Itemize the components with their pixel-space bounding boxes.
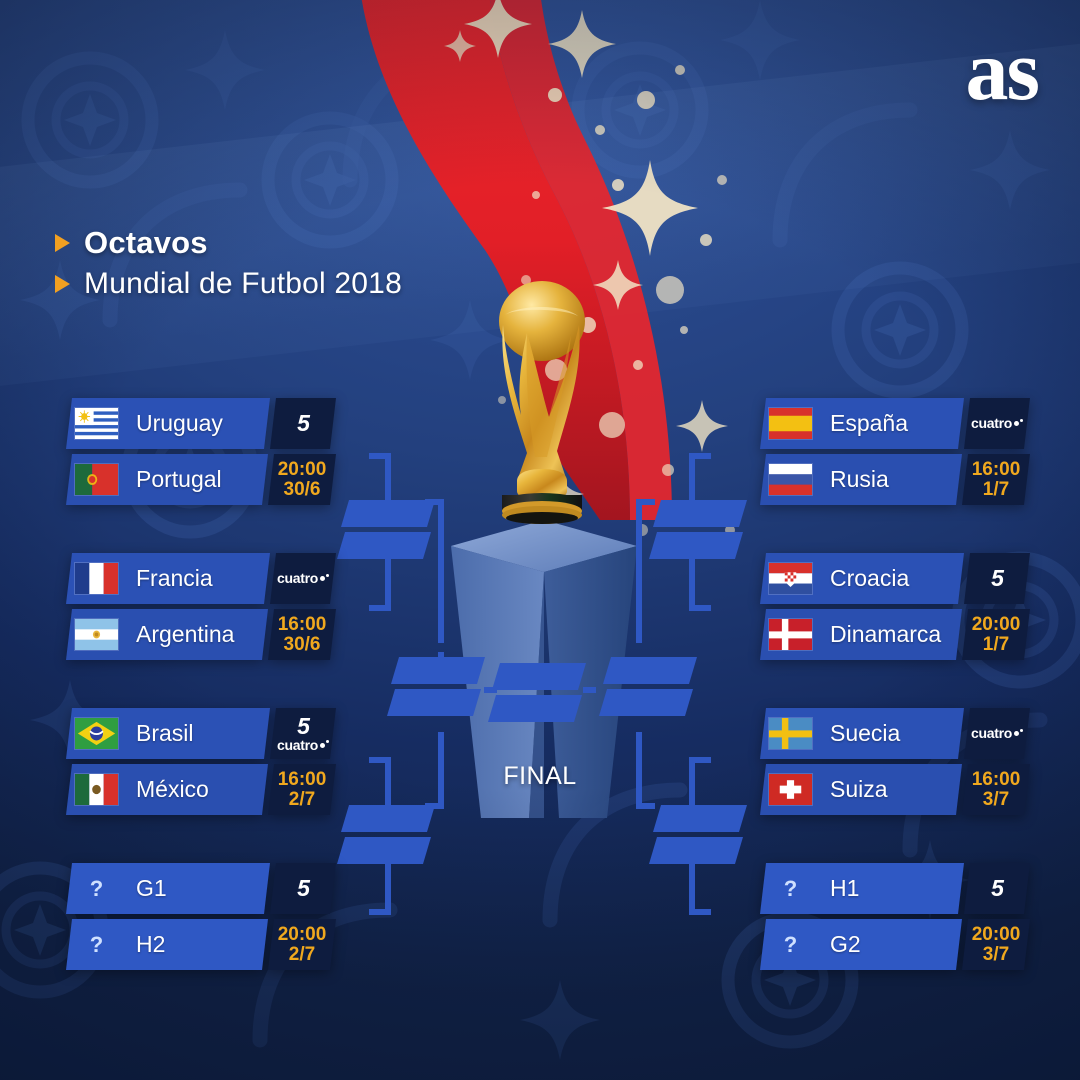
- channel-badge[interactable]: cuatro: [964, 708, 1030, 759]
- flag-rusia: [768, 463, 813, 496]
- match-card[interactable]: Francia cuatro Argentina 16:00 30/6: [66, 553, 336, 660]
- channel-badge[interactable]: 5: [964, 863, 1030, 914]
- team-row[interactable]: Rusia 16:00 1/7: [760, 454, 1030, 505]
- team-name: Rusia: [830, 466, 889, 493]
- team-bar[interactable]: Rusia: [760, 454, 962, 505]
- match-date: 30/6: [284, 480, 321, 500]
- match-time: 20:00: [278, 925, 327, 945]
- team-name: Suiza: [830, 776, 888, 803]
- team-name: G1: [136, 875, 167, 902]
- match-time: 16:00: [278, 770, 327, 790]
- team-name: España: [830, 410, 908, 437]
- flag-suecia: [768, 717, 813, 750]
- as-brand-logo: as: [966, 34, 1038, 108]
- team-name: H1: [830, 875, 859, 902]
- match-time: 20:00: [278, 460, 327, 480]
- team-name: H2: [136, 931, 165, 958]
- match-date: 30/6: [284, 635, 321, 655]
- match-time: 16:00: [278, 615, 327, 635]
- channel-badge[interactable]: cuatro: [270, 553, 336, 604]
- team-name: Portugal: [136, 466, 222, 493]
- page-subtitle: Mundial de Futbol 2018: [84, 267, 402, 301]
- team-row[interactable]: Suiza 16:00 3/7: [760, 764, 1030, 815]
- team-name: Suecia: [830, 720, 900, 747]
- match-card[interactable]: Suecia cuatro Suiza 16:00 3/7: [760, 708, 1030, 815]
- kickoff-badge: 16:00 1/7: [962, 454, 1030, 505]
- team-name: Brasil: [136, 720, 194, 747]
- page-title-block: Octavos Mundial de Futbol 2018: [55, 225, 402, 307]
- team-bar[interactable]: México: [66, 764, 268, 815]
- unknown-team-icon: ?: [74, 876, 119, 902]
- match-card[interactable]: ? G1 5 ? H2 20:00 2/7: [66, 863, 336, 970]
- flag-dinamarca: [768, 618, 813, 651]
- match-time: 20:00: [972, 925, 1021, 945]
- title-row-primary: Octavos: [55, 225, 402, 261]
- unknown-team-icon: ?: [74, 932, 119, 958]
- channel-badge[interactable]: 5: [964, 553, 1030, 604]
- team-bar[interactable]: Portugal: [66, 454, 268, 505]
- match-date: 3/7: [983, 790, 1009, 810]
- team-bar[interactable]: Croacia: [760, 553, 964, 604]
- match-date: 1/7: [983, 480, 1009, 500]
- team-row[interactable]: ? H2 20:00 2/7: [66, 919, 336, 970]
- channel-logo-telecinco: 5: [991, 877, 1003, 900]
- channel-logo-telecinco: 5: [297, 715, 309, 738]
- infographic-root: FINAL Octavos Mundial de Futbol 2018 as …: [0, 0, 1080, 1080]
- team-name: G2: [830, 931, 861, 958]
- kickoff-badge: 20:00 3/7: [962, 919, 1030, 970]
- team-row[interactable]: Uruguay 5: [66, 398, 336, 449]
- team-name: Uruguay: [136, 410, 223, 437]
- flag-francia: [74, 562, 119, 595]
- team-bar[interactable]: Argentina: [66, 609, 268, 660]
- kickoff-badge: 20:00 1/7: [962, 609, 1030, 660]
- flag-portugal: [74, 463, 119, 496]
- match-date: 2/7: [289, 945, 315, 965]
- team-row[interactable]: ? G1 5: [66, 863, 336, 914]
- page-title: Octavos: [84, 225, 208, 261]
- channel-logo-cuatro: cuatro: [971, 726, 1023, 741]
- bracket-column-left: Uruguay 5 Portugal 20:00 30/6 Francia cu…: [66, 398, 336, 1018]
- team-bar[interactable]: Suecia: [760, 708, 964, 759]
- team-name: Croacia: [830, 565, 909, 592]
- channel-badge[interactable]: cuatro: [964, 398, 1030, 449]
- match-date: 2/7: [289, 790, 315, 810]
- flag-suiza: [768, 773, 813, 806]
- team-bar[interactable]: España: [760, 398, 964, 449]
- channel-logo-telecinco: 5: [297, 412, 309, 435]
- channel-logo-cuatro: cuatro: [277, 738, 329, 753]
- kickoff-badge: 20:00 2/7: [268, 919, 336, 970]
- kickoff-badge: 16:00 30/6: [268, 609, 336, 660]
- match-card[interactable]: ? H1 5 ? G2 20:00 3/7: [760, 863, 1030, 970]
- kickoff-badge: 20:00 30/6: [268, 454, 336, 505]
- team-bar[interactable]: Dinamarca: [760, 609, 962, 660]
- team-bar[interactable]: ? H2: [66, 919, 268, 970]
- team-row[interactable]: Argentina 16:00 30/6: [66, 609, 336, 660]
- team-row[interactable]: México 16:00 2/7: [66, 764, 336, 815]
- team-row[interactable]: Brasil 5cuatro: [66, 708, 336, 759]
- flag-brasil: [74, 717, 119, 750]
- team-bar[interactable]: ? G1: [66, 863, 270, 914]
- match-time: 16:00: [972, 460, 1021, 480]
- match-card[interactable]: Brasil 5cuatro México 16:00 2/7: [66, 708, 336, 815]
- channel-logo-cuatro: cuatro: [277, 571, 329, 586]
- team-bar[interactable]: Suiza: [760, 764, 962, 815]
- channel-badge[interactable]: 5: [270, 863, 336, 914]
- team-name: Francia: [136, 565, 213, 592]
- unknown-team-icon: ?: [768, 932, 813, 958]
- match-card[interactable]: España cuatro Rusia 16:00 1/7: [760, 398, 1030, 505]
- team-row[interactable]: Suecia cuatro: [760, 708, 1030, 759]
- team-row[interactable]: ? H1 5: [760, 863, 1030, 914]
- team-row[interactable]: Francia cuatro: [66, 553, 336, 604]
- match-date: 1/7: [983, 635, 1009, 655]
- team-row[interactable]: Dinamarca 20:00 1/7: [760, 609, 1030, 660]
- kickoff-badge: 16:00 3/7: [962, 764, 1030, 815]
- unknown-team-icon: ?: [768, 876, 813, 902]
- team-bar[interactable]: Uruguay: [66, 398, 270, 449]
- team-name: Dinamarca: [830, 621, 941, 648]
- title-row-secondary: Mundial de Futbol 2018: [55, 267, 402, 301]
- team-name: Argentina: [136, 621, 234, 648]
- team-name: México: [136, 776, 209, 803]
- flag-croacia: [768, 562, 813, 595]
- flag-mexico: [74, 773, 119, 806]
- channel-logo-telecinco: 5: [991, 567, 1003, 590]
- match-card[interactable]: Uruguay 5 Portugal 20:00 30/6: [66, 398, 336, 505]
- triangle-bullet-icon: [55, 275, 70, 293]
- channel-logo-cuatro: cuatro: [971, 416, 1023, 431]
- channel-badge[interactable]: 5cuatro: [270, 708, 336, 759]
- team-bar[interactable]: ? H1: [760, 863, 964, 914]
- channel-logo-telecinco: 5: [297, 877, 309, 900]
- kickoff-badge: 16:00 2/7: [268, 764, 336, 815]
- match-date: 3/7: [983, 945, 1009, 965]
- team-bar[interactable]: ? G2: [760, 919, 962, 970]
- channel-badge[interactable]: 5: [270, 398, 336, 449]
- match-time: 20:00: [972, 615, 1021, 635]
- bracket-column-right: España cuatro Rusia 16:00 1/7 Croacia: [760, 398, 1030, 1018]
- flag-uruguay: [74, 407, 119, 440]
- flag-argentina: [74, 618, 119, 651]
- team-row[interactable]: España cuatro: [760, 398, 1030, 449]
- team-row[interactable]: ? G2 20:00 3/7: [760, 919, 1030, 970]
- match-time: 16:00: [972, 770, 1021, 790]
- team-row[interactable]: Portugal 20:00 30/6: [66, 454, 336, 505]
- team-bar[interactable]: Brasil: [66, 708, 270, 759]
- team-row[interactable]: Croacia 5: [760, 553, 1030, 604]
- triangle-bullet-icon: [55, 234, 70, 252]
- flag-espana: [768, 407, 813, 440]
- match-card[interactable]: Croacia 5 Dinamarca 20:00 1/7: [760, 553, 1030, 660]
- team-bar[interactable]: Francia: [66, 553, 270, 604]
